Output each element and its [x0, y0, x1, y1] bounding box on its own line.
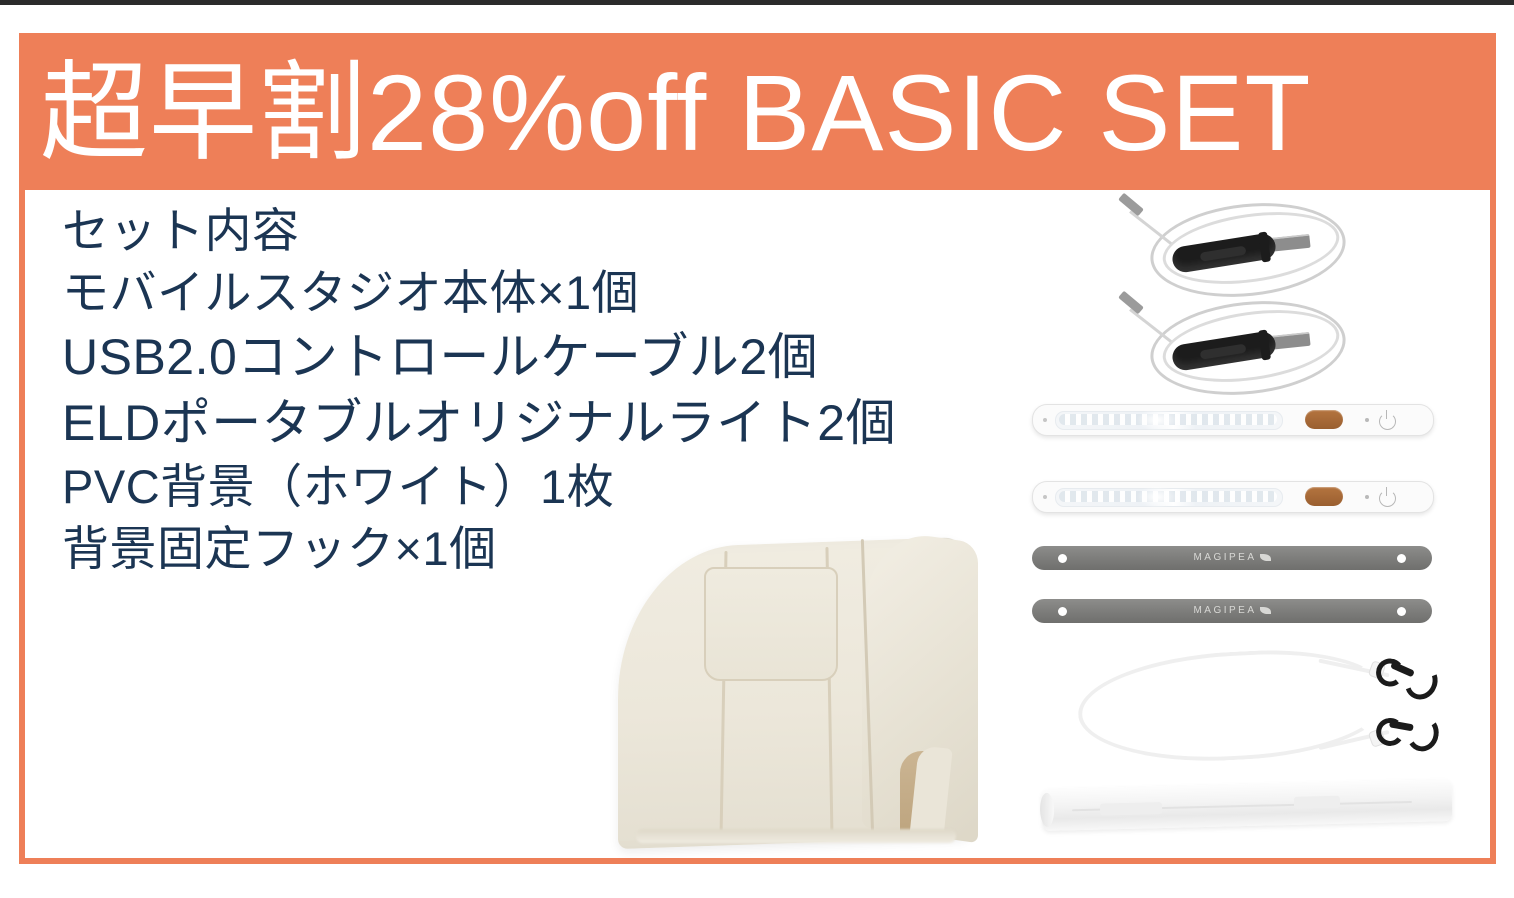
brand-label: MAGIPEA [1032, 552, 1432, 563]
roll-end-cap [1040, 793, 1055, 827]
list-item: ELDポータブルオリジナルライト2個 [62, 390, 1022, 456]
product-photo-bungee-hook [1070, 646, 1470, 762]
page-title: 超早割28%off BASIC SET [40, 38, 1500, 188]
top-edge-bar [0, 0, 1514, 5]
roll-tab [1294, 796, 1340, 809]
hook-icon [1374, 649, 1434, 699]
product-photo-mobile-studio-body [600, 533, 990, 851]
promo-poster: 超早割28%off BASIC SET セット内容 モバイルスタジオ本体×1個 … [0, 0, 1514, 898]
product-photo-usb-cable-2 [1110, 294, 1360, 399]
led-indicator-dot [1043, 495, 1047, 499]
list-item: USB2.0コントロールケーブル2個 [62, 324, 1022, 390]
leaf-icon [1260, 554, 1271, 561]
brand-text: MAGIPEA [1193, 605, 1256, 616]
led-power-button[interactable] [1305, 410, 1343, 429]
power-icon [1379, 413, 1396, 430]
hook-curve [1404, 713, 1442, 754]
set-contents-list: セット内容 モバイルスタジオ本体×1個 USB2.0コントロールケーブル2個 E… [62, 200, 1022, 580]
led-indicator-dot [1365, 418, 1369, 422]
product-photo-pvc-backdrop-roll [1042, 779, 1453, 831]
leaf-icon [1260, 607, 1271, 614]
brand-text: MAGIPEA [1193, 552, 1256, 563]
list-item: モバイルスタジオ本体×1個 [62, 262, 1022, 324]
led-glow [1137, 409, 1177, 431]
product-photo-usb-cable-1 [1110, 196, 1360, 301]
list-item: PVC背景（ホワイト）1枚 [62, 456, 1022, 518]
set-contents-heading: セット内容 [62, 200, 1022, 262]
led-power-button[interactable] [1305, 487, 1343, 506]
tent-front-flap [704, 567, 838, 681]
product-photo-bracket-strip-1: MAGIPEA [1032, 546, 1432, 570]
power-icon [1379, 490, 1396, 507]
product-photo-led-light-2 [1032, 481, 1434, 513]
led-indicator-dot [1365, 495, 1369, 499]
accessory-photo-column: MAGIPEA MAGIPEA [1020, 196, 1490, 856]
led-indicator-dot [1043, 418, 1047, 422]
cable-lead [1129, 210, 1172, 244]
product-photo-led-light-1 [1032, 404, 1434, 436]
roll-tab [1100, 802, 1162, 816]
brand-label: MAGIPEA [1032, 605, 1432, 616]
product-photo-bracket-strip-2: MAGIPEA [1032, 599, 1432, 623]
led-glow [1137, 486, 1177, 508]
hook-curve [1399, 659, 1443, 705]
hook-icon [1373, 704, 1435, 755]
cable-lead [1129, 308, 1172, 342]
tent-base-shadow [636, 829, 956, 843]
